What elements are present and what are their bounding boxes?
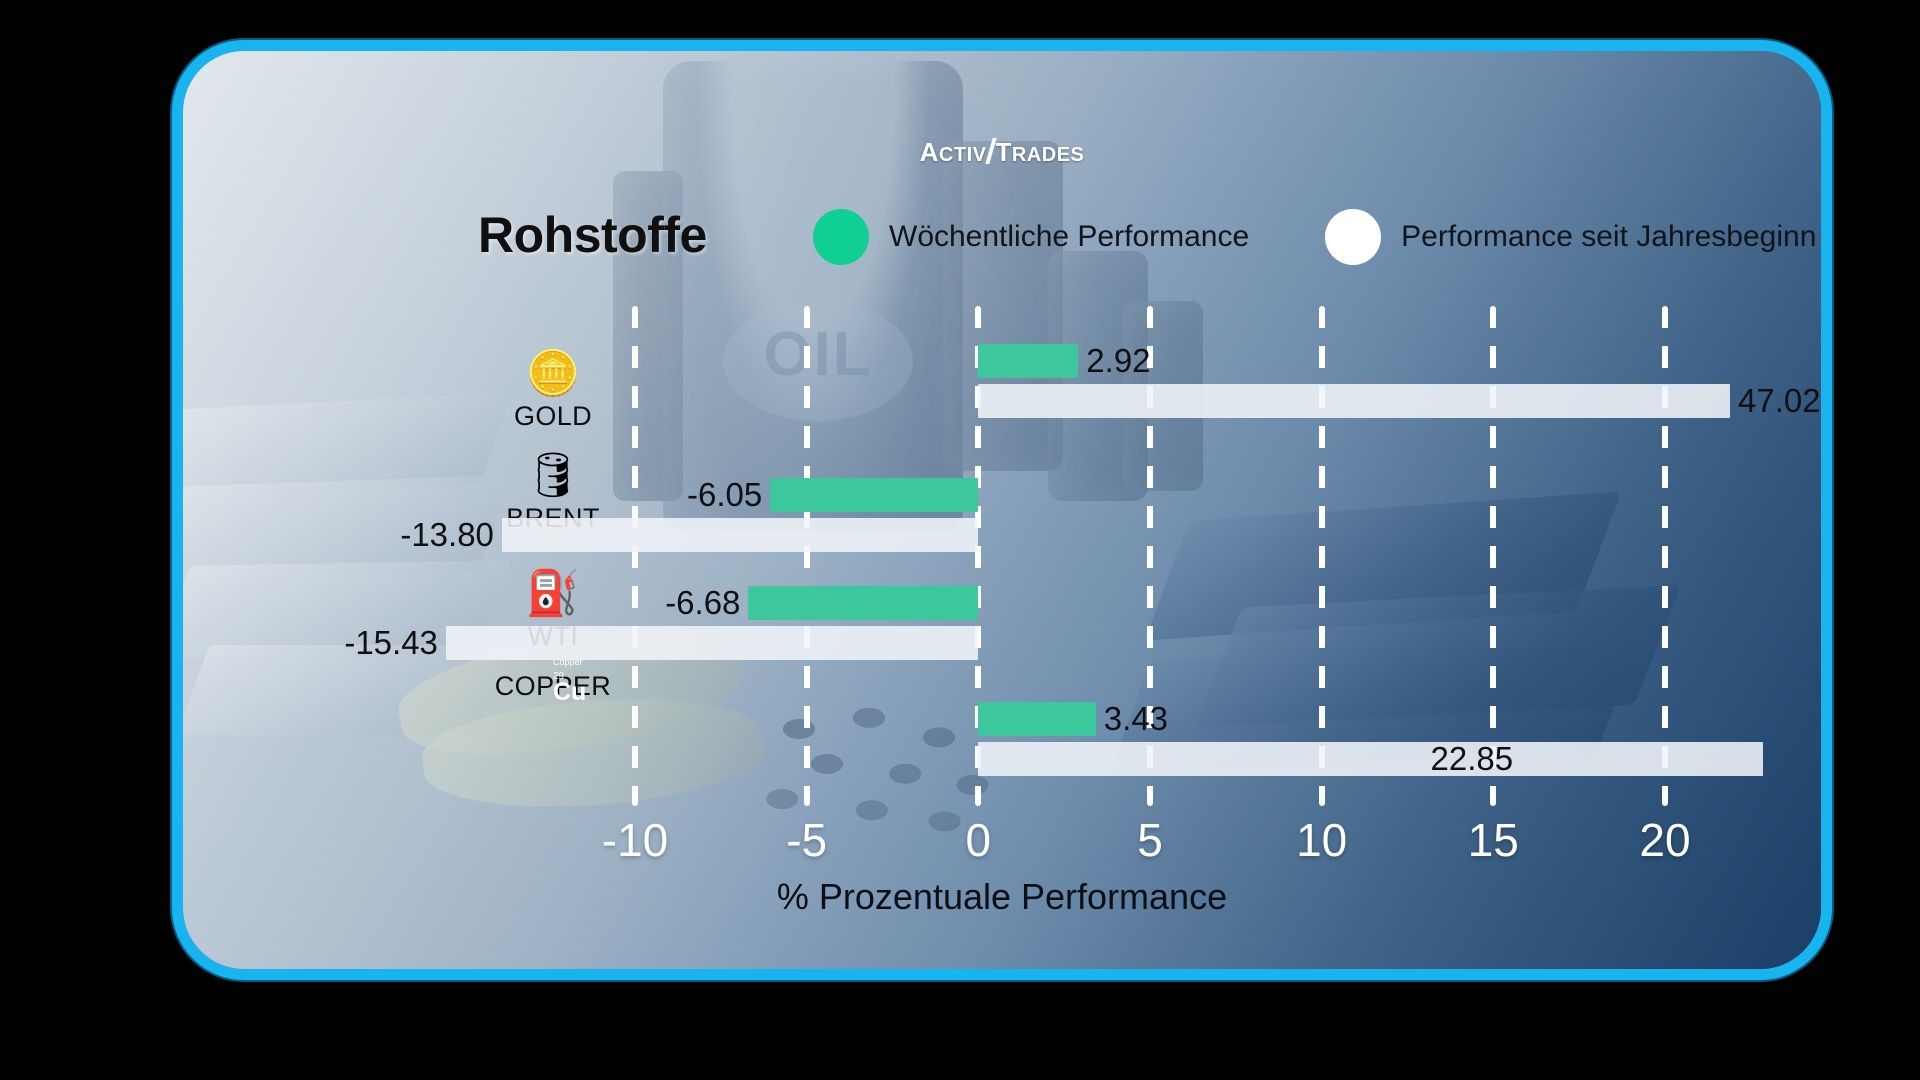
infographic-card: OIL ACTIVTRADES Rohstoffe Wöchentliche bbox=[172, 40, 1832, 980]
chart-legend: Wöchentliche Performance Performance sei… bbox=[813, 209, 1816, 265]
bar-gold-ytd[interactable] bbox=[978, 384, 1730, 418]
bar-wti-ytd[interactable] bbox=[446, 626, 978, 660]
xtick-20: 20 bbox=[1605, 813, 1725, 867]
logo-t: T bbox=[995, 137, 1011, 167]
chart-content: ACTIVTRADES Rohstoffe Wöchentliche Perfo… bbox=[183, 51, 1821, 969]
legend-label-weekly: Wöchentliche Performance bbox=[889, 220, 1249, 254]
bar-wti-weekly[interactable] bbox=[748, 586, 978, 620]
bar-brent-weekly[interactable] bbox=[770, 478, 978, 512]
activtrades-logo: ACTIVTRADES bbox=[183, 137, 1821, 168]
bar-value-copper-ytd: 22.85 bbox=[1423, 742, 1514, 776]
bar-value-copper-weekly: 3.43 bbox=[1096, 702, 1168, 736]
legend-swatch-weekly-icon bbox=[813, 209, 869, 265]
logo-ctiv: CTIV bbox=[939, 144, 987, 166]
screenshot-root: OIL ACTIVTRADES Rohstoffe Wöchentliche bbox=[0, 0, 1920, 1080]
legend-swatch-ytd-icon bbox=[1325, 209, 1381, 265]
legend-item-weekly: Wöchentliche Performance bbox=[813, 209, 1249, 265]
bar-value-gold-weekly: 2.92 bbox=[1078, 344, 1150, 378]
bar-value-wti-weekly: -6.68 bbox=[548, 586, 748, 620]
xtick-10: 10 bbox=[1262, 813, 1382, 867]
xtick-15: 15 bbox=[1433, 813, 1553, 867]
bar-value-wti-ytd: -15.43 bbox=[251, 626, 446, 660]
bar-rows: 2.92 47.02 -6.05 -13.80 bbox=[635, 266, 1665, 806]
xtick--5: -5 bbox=[747, 813, 867, 867]
legend-item-ytd: Performance seit Jahresbeginn bbox=[1325, 209, 1816, 265]
bar-copper-ytd[interactable] bbox=[978, 742, 1763, 776]
bar-brent-ytd[interactable] bbox=[502, 518, 978, 552]
logo-rades: RADES bbox=[1012, 144, 1085, 166]
bar-gold-weekly[interactable] bbox=[978, 344, 1078, 378]
plot-area: 2.92 47.02 -6.05 -13.80 bbox=[635, 266, 1665, 806]
xtick-5: 5 bbox=[1090, 813, 1210, 867]
page-title: Rohstoffe bbox=[478, 206, 707, 264]
xtick--10: -10 bbox=[575, 813, 695, 867]
bar-value-brent-weekly: -6.05 bbox=[570, 478, 770, 512]
bar-value-gold-ytd: 47.02 bbox=[1730, 384, 1821, 418]
x-axis-title: % Prozentuale Performance bbox=[183, 876, 1821, 918]
bar-value-brent-ytd: -13.80 bbox=[302, 518, 502, 552]
legend-label-ytd: Performance seit Jahresbeginn bbox=[1401, 220, 1816, 254]
bar-copper-weekly[interactable] bbox=[978, 702, 1096, 736]
logo-a: A bbox=[920, 137, 939, 167]
xtick-0: 0 bbox=[918, 813, 1038, 867]
